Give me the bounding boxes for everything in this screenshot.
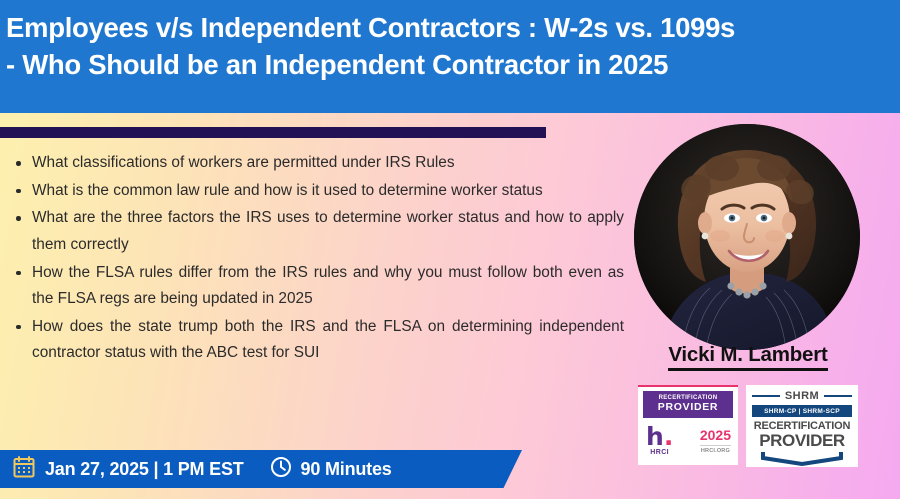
shrm-credentials-label: SHRM-CP | SHRM-SCP bbox=[752, 405, 852, 417]
shrm-rule-right bbox=[824, 395, 852, 397]
event-details-bar: Jan 27, 2025 | 1 PM EST 90 Minutes bbox=[0, 450, 522, 488]
hrci-logo-letter: h bbox=[646, 422, 664, 451]
hrci-year-label: 2025 bbox=[700, 428, 731, 442]
event-date-group: Jan 27, 2025 | 1 PM EST bbox=[12, 455, 244, 484]
speaker-portrait-illustration bbox=[634, 124, 860, 350]
avatar bbox=[634, 124, 860, 350]
hrci-logo-dot: . bbox=[664, 422, 674, 451]
hrci-year-block: 2025 HRCI.ORG bbox=[700, 428, 731, 454]
hrci-url-label: HRCI.ORG bbox=[700, 445, 731, 454]
list-item: What is the common law rule and how is i… bbox=[12, 178, 624, 205]
list-item: How does the state trump both the IRS an… bbox=[12, 314, 624, 367]
webinar-promo-banner: Employees v/s Independent Contractors : … bbox=[0, 0, 900, 499]
event-duration-group: 90 Minutes bbox=[270, 456, 392, 483]
clock-icon bbox=[270, 456, 292, 483]
shrm-badge: SHRM SHRM-CP | SHRM-SCP RECERTIFICATION … bbox=[746, 385, 858, 467]
page-title: Employees v/s Independent Contractors : … bbox=[6, 10, 888, 83]
shrm-provider-label: PROVIDER bbox=[759, 432, 845, 449]
hrci-logo-icon: h. bbox=[646, 426, 673, 447]
event-duration-text: 90 Minutes bbox=[301, 459, 392, 480]
shrm-name-label: SHRM bbox=[785, 390, 819, 402]
header-band: Employees v/s Independent Contractors : … bbox=[0, 0, 900, 113]
shrm-chevron-icon bbox=[759, 450, 845, 471]
list-item: What are the three factors the IRS uses … bbox=[12, 205, 624, 258]
section-divider bbox=[0, 127, 546, 138]
certification-badges: RECERTIFICATION PROVIDER h. HRCI 2025 HR… bbox=[638, 385, 866, 467]
calendar-icon bbox=[12, 455, 36, 484]
shrm-title-row: SHRM bbox=[752, 390, 852, 402]
hrci-badge-body: h. HRCI 2025 HRCI.ORG bbox=[643, 418, 733, 462]
speaker-name-text: Vicki M. Lambert bbox=[668, 343, 827, 371]
hrci-logo-block: h. HRCI bbox=[646, 426, 673, 456]
shrm-rule-left bbox=[752, 395, 780, 397]
hrci-badge: RECERTIFICATION PROVIDER h. HRCI 2025 HR… bbox=[638, 385, 738, 465]
hrci-provider-label: PROVIDER bbox=[643, 402, 733, 413]
event-date-text: Jan 27, 2025 | 1 PM EST bbox=[45, 459, 244, 480]
list-item: What classifications of workers are perm… bbox=[12, 150, 624, 177]
list-item: How the FLSA rules differ from the IRS r… bbox=[12, 260, 624, 313]
hrci-badge-header: RECERTIFICATION PROVIDER bbox=[643, 391, 733, 418]
topic-list: What classifications of workers are perm… bbox=[12, 150, 624, 368]
speaker-name: Vicki M. Lambert bbox=[628, 343, 868, 371]
